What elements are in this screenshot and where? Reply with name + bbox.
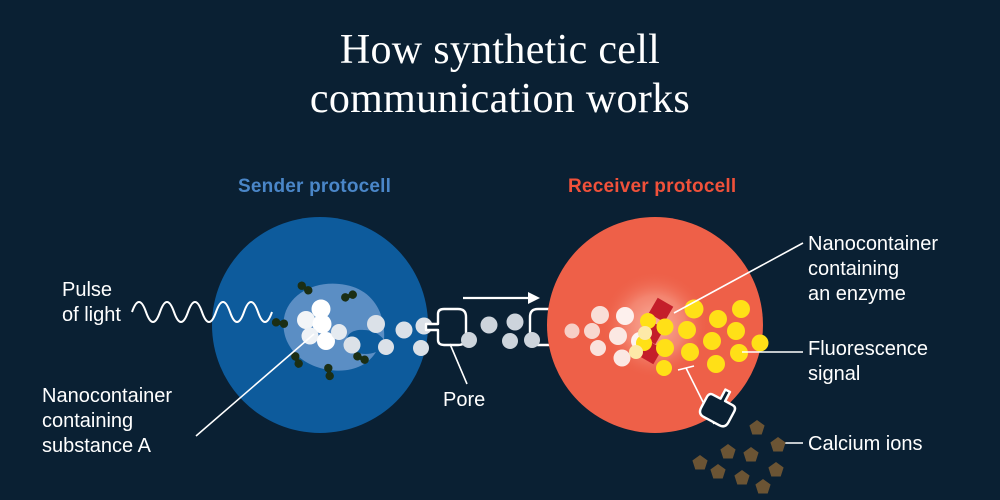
signal-particle-trail-gap (461, 314, 540, 350)
calcium-ion (755, 479, 770, 494)
calcium-ion (720, 444, 735, 459)
calcium-ion (692, 455, 707, 470)
diagram-artwork (0, 0, 1000, 500)
pore-icon[interactable] (426, 309, 466, 345)
calcium-ion (770, 437, 785, 452)
calcium-ion-group (692, 420, 785, 494)
calcium-ion (743, 447, 758, 462)
calcium-ion (749, 420, 764, 435)
sender-protocell (212, 217, 428, 433)
flow-direction-arrow (463, 292, 540, 304)
calcium-ion (710, 464, 725, 479)
receiver-protocell (547, 217, 769, 433)
infographic-canvas: How synthetic cell communication works S… (0, 0, 1000, 500)
calcium-ion (734, 470, 749, 485)
calcium-ion (768, 462, 783, 477)
leader-line-pore (450, 344, 467, 384)
